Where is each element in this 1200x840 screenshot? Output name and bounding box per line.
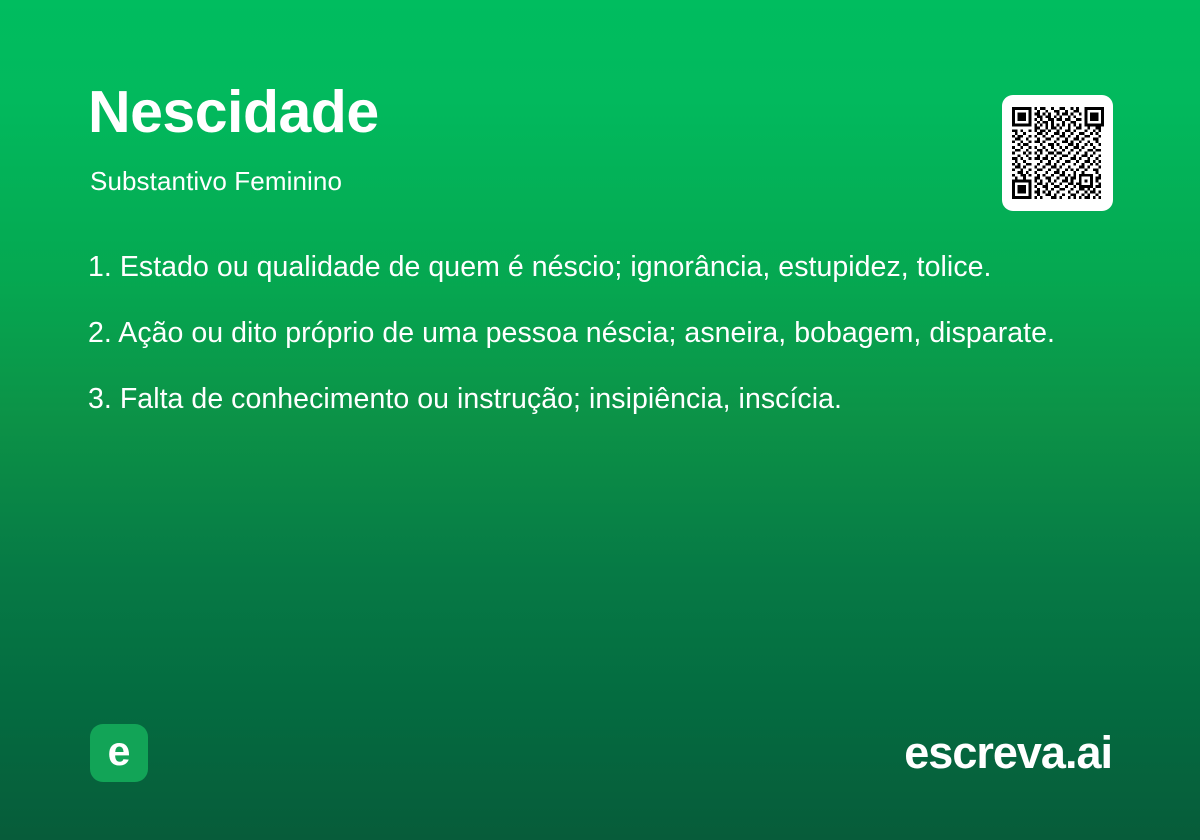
brand-logo-letter: e [108, 731, 131, 772]
definition-item: 3. Falta de conhecimento ou instrução; i… [88, 380, 1098, 418]
definition-list: 1. Estado ou qualidade de quem é néscio;… [88, 248, 1098, 418]
dictionary-entry-card: Nescidade Substantivo Feminino 1. Estado… [0, 0, 1200, 840]
part-of-speech-label: Substantivo Feminino [90, 166, 342, 197]
qr-code-icon [1012, 107, 1104, 199]
brand-logo[interactable]: e [90, 724, 148, 782]
definition-item: 1. Estado ou qualidade de quem é néscio;… [88, 248, 1098, 286]
page-title: Nescidade [88, 82, 379, 144]
definition-item: 2. Ação ou dito próprio de uma pessoa né… [88, 314, 1098, 352]
brand-wordmark[interactable]: escreva.ai [904, 726, 1112, 780]
qr-code-card[interactable] [1002, 95, 1113, 211]
